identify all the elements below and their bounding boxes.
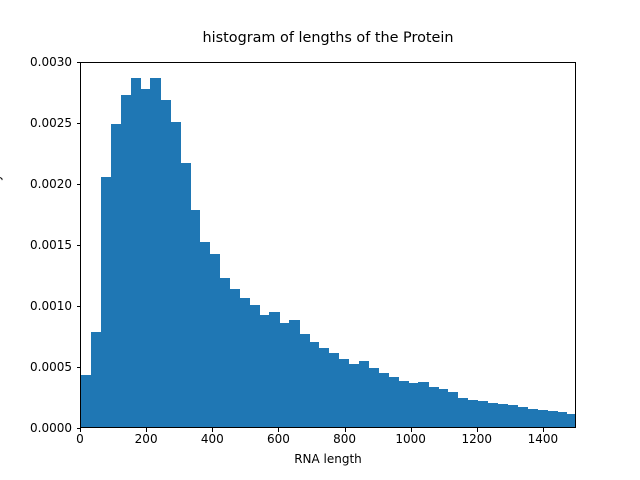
histogram-bar <box>478 401 488 427</box>
histogram-bar <box>537 410 547 427</box>
y-axis-tick-label: 0.0025 <box>0 116 72 130</box>
histogram-bar <box>309 342 319 427</box>
y-axis-tick-label: 0.0015 <box>0 238 72 252</box>
histogram-bar <box>379 373 389 427</box>
x-axis-tick-label: 0 <box>76 432 84 446</box>
figure-canvas: histogram of lengths of the Protein dens… <box>0 0 640 480</box>
x-axis-tick-mark <box>477 428 478 432</box>
histogram-bar <box>111 124 121 427</box>
histogram-bar <box>81 375 91 427</box>
x-axis-tick-mark <box>80 428 81 432</box>
histogram-bar <box>498 404 508 427</box>
histogram-bar <box>269 312 279 427</box>
histogram-bar <box>369 368 379 427</box>
histogram-bar <box>230 289 240 427</box>
histogram-bar <box>121 95 131 427</box>
histogram-bar <box>527 409 537 427</box>
histogram-bar <box>200 242 210 427</box>
histogram-bar <box>299 334 309 427</box>
histogram-bar <box>160 100 170 427</box>
x-axis-tick-mark <box>278 428 279 432</box>
x-axis-tick-mark <box>212 428 213 432</box>
histogram-bar <box>141 89 151 427</box>
histogram-bar <box>517 407 527 427</box>
histogram-bar <box>91 332 101 427</box>
histogram-bar <box>359 361 369 427</box>
histogram-bar <box>289 320 299 427</box>
histogram-bar <box>150 78 160 427</box>
x-axis-tick-mark <box>345 428 346 432</box>
x-axis-tick-mark <box>146 428 147 432</box>
histogram-bar <box>131 78 141 427</box>
x-axis-tick-label: 1000 <box>395 432 426 446</box>
y-axis-tick-label: 0.0000 <box>0 421 72 435</box>
histogram-bar <box>190 210 200 427</box>
plot-area <box>80 62 576 428</box>
y-axis-tick-label: 0.0020 <box>0 177 72 191</box>
x-axis-tick-label: 1400 <box>528 432 559 446</box>
histogram-bar <box>428 387 438 427</box>
chart-title: histogram of lengths of the Protein <box>80 30 576 47</box>
histogram-bar <box>557 412 567 427</box>
histogram-bar <box>101 177 111 427</box>
histogram-bar <box>438 389 448 427</box>
x-axis-tick-label: 800 <box>333 432 356 446</box>
y-axis-tick-label: 0.0030 <box>0 55 72 69</box>
histogram-bar <box>547 411 557 427</box>
histogram-bar <box>279 323 289 427</box>
histogram-bar <box>508 405 518 427</box>
x-axis-label: RNA length <box>80 452 576 466</box>
histogram-bar <box>339 359 349 427</box>
histogram-bar <box>180 163 190 427</box>
histogram-bar <box>260 315 270 427</box>
histogram-bar <box>389 377 399 427</box>
histogram-bar <box>250 305 260 427</box>
histogram-bar <box>170 122 180 427</box>
histogram-bar <box>329 353 339 427</box>
x-axis-tick-label: 600 <box>267 432 290 446</box>
histogram-bar <box>210 254 220 427</box>
histogram-bar <box>220 278 230 427</box>
histogram-bar <box>448 392 458 427</box>
histogram-bar <box>567 414 576 427</box>
histogram-bar <box>468 400 478 427</box>
histogram-bar <box>458 398 468 427</box>
histogram-bar <box>319 348 329 427</box>
histogram-bar <box>418 382 428 427</box>
histogram-bar <box>488 403 498 427</box>
x-axis-tick-label: 400 <box>201 432 224 446</box>
histogram-bar <box>398 381 408 427</box>
histogram-bar <box>349 364 359 427</box>
x-axis-tick-mark <box>411 428 412 432</box>
y-axis-tick-label: 0.0010 <box>0 299 72 313</box>
x-axis-tick-mark <box>543 428 544 432</box>
histogram-bars <box>81 63 575 427</box>
y-axis-tick-label: 0.0005 <box>0 360 72 374</box>
x-axis-tick-label: 1200 <box>462 432 493 446</box>
x-axis-tick-label: 200 <box>135 432 158 446</box>
histogram-bar <box>240 298 250 427</box>
histogram-bar <box>408 383 418 427</box>
